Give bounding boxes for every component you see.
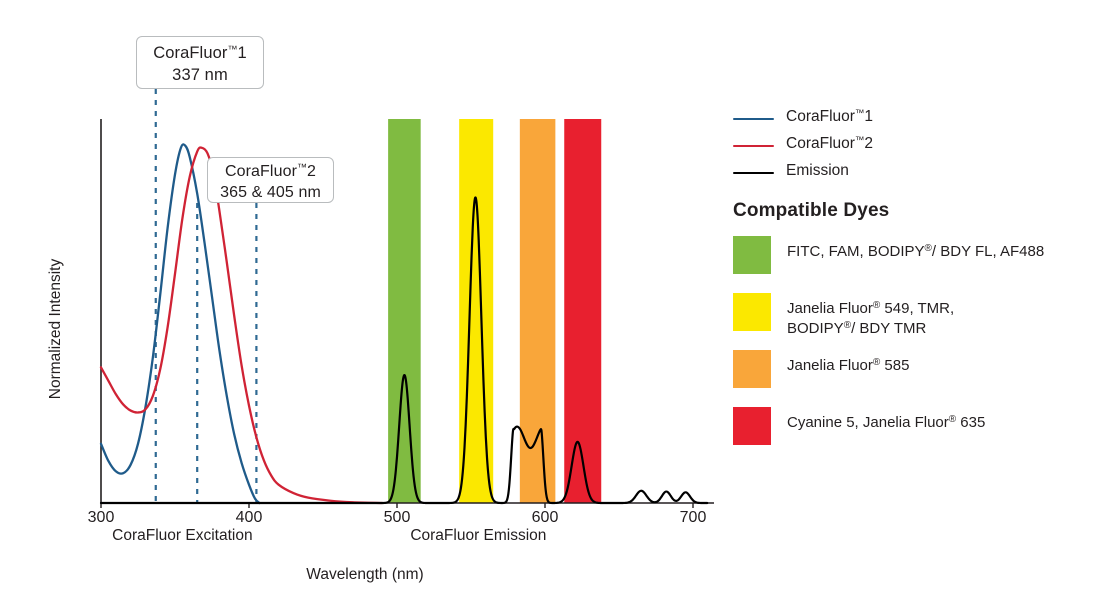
legend-cora-fluor-1: CoraFluor™1 xyxy=(731,106,1106,133)
dye-green-swatch xyxy=(733,236,771,274)
callout-corafluor-1-title: CoraFluor™1 xyxy=(137,43,263,65)
callout-corafluor-1: CoraFluor™1 337 nm xyxy=(136,36,264,89)
callout-corafluor-2-title: CoraFluor™2 xyxy=(208,161,333,182)
dye-yellow-label: Janelia Fluor® 549, TMR,BODIPY®/ BDY TMR xyxy=(787,299,954,339)
dye-red-label: Cyanine 5, Janelia Fluor® 635 xyxy=(787,413,985,433)
dye-yellow-swatch xyxy=(733,293,771,331)
legend-cora-fluor-2-swatch xyxy=(733,145,774,147)
legend-emission-label: Emission xyxy=(786,162,849,180)
x-tick-label-400: 400 xyxy=(219,509,279,527)
x-tick-label-300: 300 xyxy=(71,509,131,527)
callout-corafluor-2: CoraFluor™2 365 & 405 nm xyxy=(207,157,334,203)
compatible-dyes-list: FITC, FAM, BODIPY®/ BDY FL, AF488Janelia… xyxy=(733,236,1108,464)
legend-cora-fluor-2-label: CoraFluor™2 xyxy=(786,135,873,153)
emission-region-label: CoraFluor Emission xyxy=(368,527,588,545)
callout-corafluor-1-value: 337 nm xyxy=(137,65,263,87)
legend-cora-fluor-2: CoraFluor™2 xyxy=(731,133,1106,160)
dye-red-swatch xyxy=(733,407,771,445)
legend-emission: Emission xyxy=(731,160,1106,187)
dye-green-label: FITC, FAM, BODIPY®/ BDY FL, AF488 xyxy=(787,242,1044,262)
x-tick-label-500: 500 xyxy=(367,509,427,527)
dye-green-row: FITC, FAM, BODIPY®/ BDY FL, AF488 xyxy=(733,236,1108,293)
x-tick-label-600: 600 xyxy=(515,509,575,527)
fluorescence-spectra-figure: CoraFluor™1 337 nm CoraFluor™2 365 & 405… xyxy=(0,0,1110,612)
dye-orange-label: Janelia Fluor® 585 xyxy=(787,356,909,376)
legend-cora-fluor-1-label: CoraFluor™1 xyxy=(786,108,873,126)
callout-corafluor-2-value: 365 & 405 nm xyxy=(208,182,333,203)
excitation-region-label: CoraFluor Excitation xyxy=(72,527,292,545)
dye-orange-swatch xyxy=(733,350,771,388)
green-band xyxy=(388,119,421,503)
legend-cora-fluor-1-swatch xyxy=(733,118,774,120)
orange-band xyxy=(520,119,556,503)
x-axis-title: Wavelength (nm) xyxy=(0,566,730,584)
series-legend: CoraFluor™1CoraFluor™2Emission xyxy=(731,106,1106,187)
dye-orange-row: Janelia Fluor® 585 xyxy=(733,350,1108,407)
y-axis-title: Normalized Intensity xyxy=(47,234,65,424)
red-band xyxy=(564,119,601,503)
dye-yellow-row: Janelia Fluor® 549, TMR,BODIPY®/ BDY TMR xyxy=(733,293,1108,350)
x-tick-label-700: 700 xyxy=(663,509,723,527)
compatible-dyes-heading: Compatible Dyes xyxy=(733,200,889,222)
legend-emission-swatch xyxy=(733,172,774,174)
dye-red-row: Cyanine 5, Janelia Fluor® 635 xyxy=(733,407,1108,464)
